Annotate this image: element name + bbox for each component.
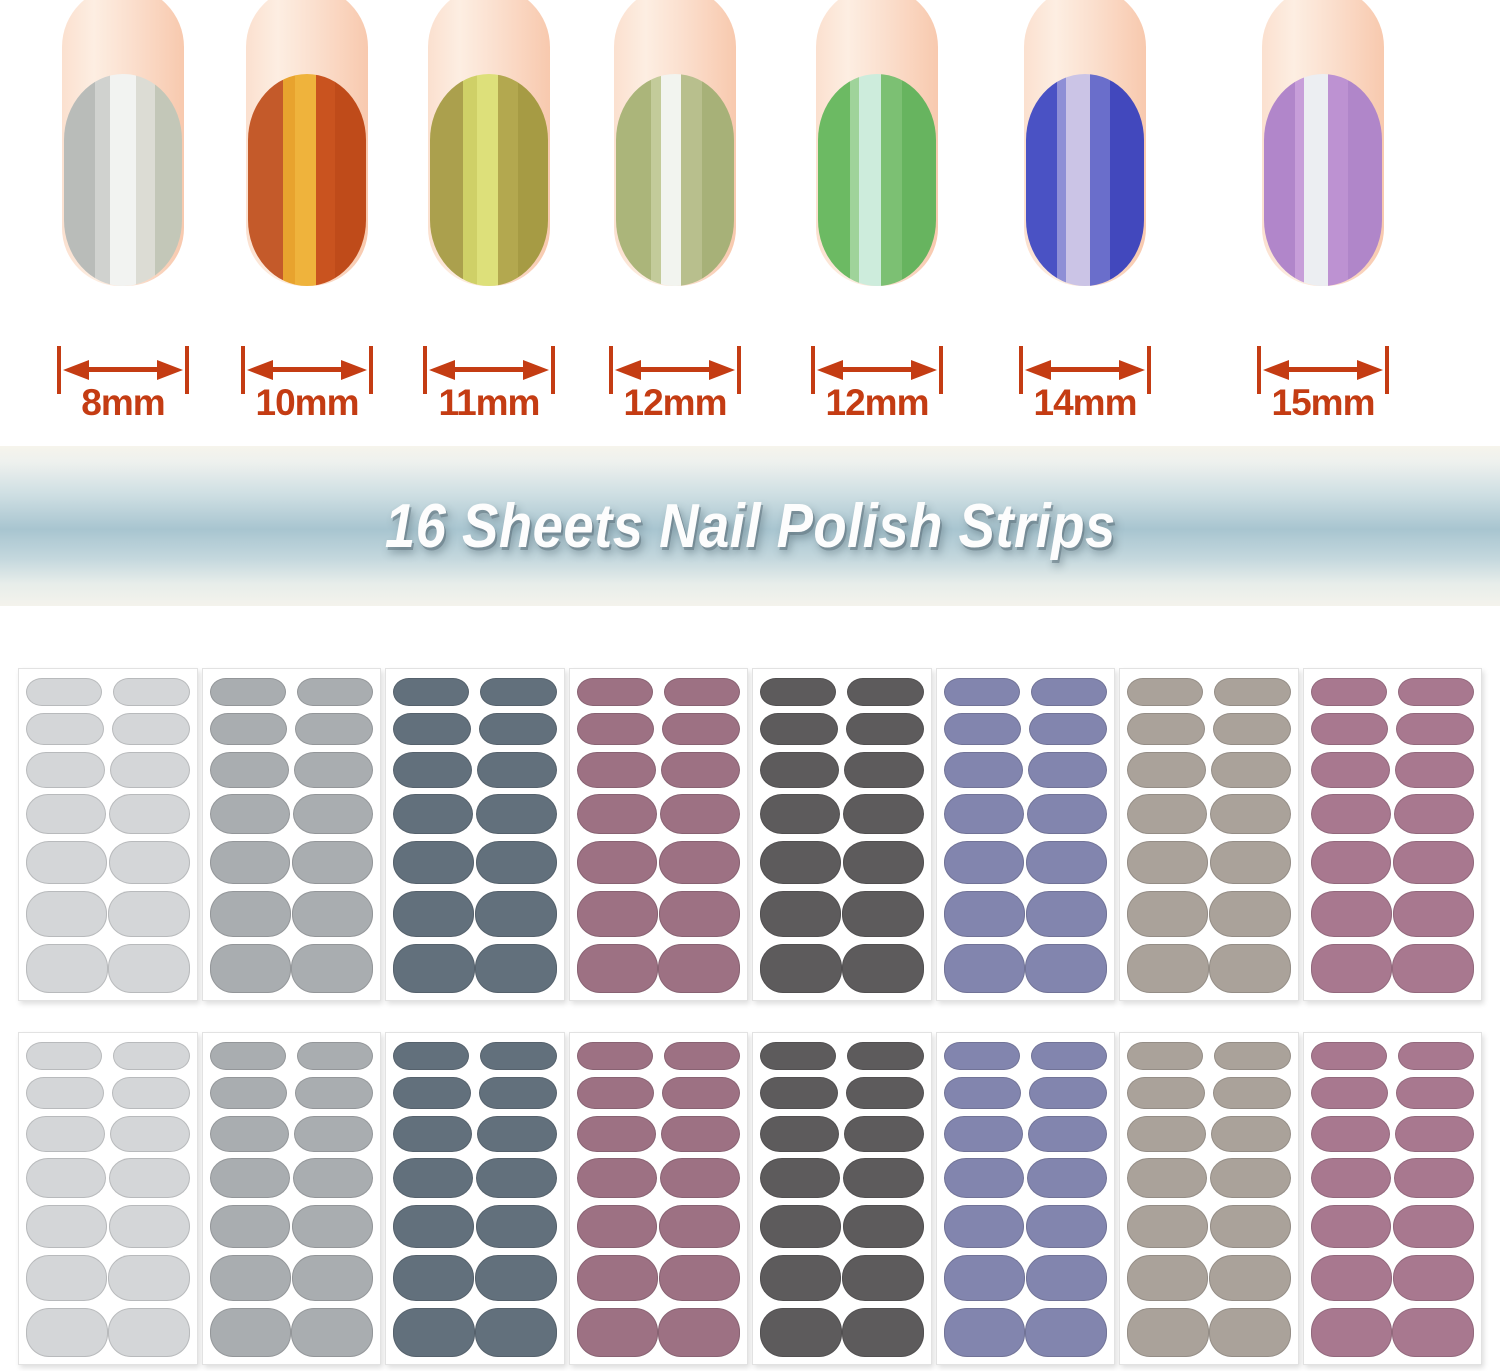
nail-decal-light-silver-gray[interactable]: [26, 752, 105, 788]
decal-row: [1127, 1077, 1291, 1109]
nail-decal-periwinkle-violet[interactable]: [944, 1077, 1022, 1109]
nail-decal-periwinkle-violet[interactable]: [1026, 1255, 1107, 1301]
nail-decal-mauve-pink[interactable]: [1311, 841, 1392, 884]
nail-decal-light-silver-gray[interactable]: [26, 678, 102, 706]
nail-decal-periwinkle-violet[interactable]: [1028, 752, 1107, 788]
nail-decal-light-silver-gray[interactable]: [26, 794, 106, 834]
nail-decal-light-silver-gray[interactable]: [109, 1205, 190, 1248]
nail-decal-warm-taupe[interactable]: [1127, 1205, 1208, 1248]
nail-decal-warm-taupe[interactable]: [1210, 1158, 1290, 1198]
nail-strip-sheet[interactable]: [18, 1032, 198, 1365]
nail-decal-dusty-mauve[interactable]: [577, 891, 658, 937]
nail-decal-charcoal-gray[interactable]: [843, 841, 924, 884]
nail-decal-charcoal-gray[interactable]: [843, 794, 923, 834]
nail-decal-charcoal-gray[interactable]: [846, 713, 924, 745]
nail-strip-sheet[interactable]: [202, 1032, 382, 1365]
nail-decal-periwinkle-violet[interactable]: [1025, 1308, 1107, 1357]
nail-decal-dusty-mauve[interactable]: [577, 1205, 658, 1248]
nail-decal-mauve-pink[interactable]: [1311, 891, 1392, 937]
nail-decal-slate-blue-gray[interactable]: [393, 1042, 469, 1070]
nail-decal-medium-gray[interactable]: [210, 1116, 289, 1152]
nail-decal-periwinkle-violet[interactable]: [1029, 713, 1107, 745]
nail-strip-sheet[interactable]: [1303, 668, 1483, 1001]
decal-row: [577, 1158, 741, 1198]
nail-decal-dusty-mauve[interactable]: [577, 841, 658, 884]
nail-decal-dusty-mauve[interactable]: [661, 1116, 740, 1152]
nail-decal-slate-blue-gray[interactable]: [476, 1205, 557, 1248]
nail-decal-charcoal-gray[interactable]: [760, 1077, 838, 1109]
nail-decal-dusty-mauve[interactable]: [664, 678, 740, 706]
nail-strip-sheet[interactable]: [1119, 1032, 1299, 1365]
nail-decal-warm-taupe[interactable]: [1127, 713, 1205, 745]
nail-decal-medium-gray[interactable]: [294, 752, 373, 788]
nail-decal-dusty-mauve[interactable]: [577, 678, 653, 706]
nail-decal-periwinkle-violet[interactable]: [944, 891, 1025, 937]
nail-decal-dusty-mauve[interactable]: [659, 1255, 740, 1301]
nail-decal-dusty-mauve[interactable]: [577, 1116, 656, 1152]
nail-strip-sheet[interactable]: [202, 668, 382, 1001]
nail-decal-medium-gray[interactable]: [210, 794, 290, 834]
nail-decal-dusty-mauve[interactable]: [577, 1308, 659, 1357]
nail-decal-mauve-pink[interactable]: [1311, 1255, 1392, 1301]
nail-decal-mauve-pink[interactable]: [1392, 944, 1474, 993]
nail-decal-slate-blue-gray[interactable]: [393, 1205, 474, 1248]
nail-decal-mauve-pink[interactable]: [1394, 1158, 1474, 1198]
nail-decal-dusty-mauve[interactable]: [577, 713, 655, 745]
nail-decal-light-silver-gray[interactable]: [112, 713, 190, 745]
nail-decal-mauve-pink[interactable]: [1311, 752, 1390, 788]
nail-decal-slate-blue-gray[interactable]: [477, 1116, 556, 1152]
decal-row: [944, 891, 1108, 937]
nail-decal-periwinkle-violet[interactable]: [944, 1116, 1023, 1152]
nail-decal-medium-gray[interactable]: [210, 678, 286, 706]
nail-decal-warm-taupe[interactable]: [1127, 752, 1206, 788]
nail-decal-periwinkle-violet[interactable]: [944, 841, 1025, 884]
arrowhead-left-icon: [1025, 360, 1051, 380]
nail-decal-charcoal-gray[interactable]: [847, 678, 923, 706]
nail-decal-mauve-pink[interactable]: [1311, 1158, 1391, 1198]
nail-decal-medium-gray[interactable]: [210, 752, 289, 788]
nail-decal-charcoal-gray[interactable]: [760, 1308, 842, 1357]
nail-decal-slate-blue-gray[interactable]: [393, 713, 471, 745]
decal-row: [760, 1116, 924, 1152]
nail-decal-warm-taupe[interactable]: [1127, 841, 1208, 884]
nail-decal-mauve-pink[interactable]: [1395, 1116, 1474, 1152]
nail-decal-dusty-mauve[interactable]: [577, 1077, 655, 1109]
nail-decal-charcoal-gray[interactable]: [760, 713, 838, 745]
nail-decal-periwinkle-violet[interactable]: [944, 1205, 1025, 1248]
nail-decal-light-silver-gray[interactable]: [26, 1077, 104, 1109]
nail-decal-periwinkle-violet[interactable]: [944, 752, 1023, 788]
nail-decal-light-silver-gray[interactable]: [113, 678, 189, 706]
nail-decal-slate-blue-gray[interactable]: [393, 1077, 471, 1109]
nail-decal-dusty-mauve[interactable]: [577, 944, 659, 993]
nail-decal-medium-gray[interactable]: [297, 678, 373, 706]
nail-decal-charcoal-gray[interactable]: [760, 678, 836, 706]
decal-row: [760, 752, 924, 788]
decal-row: [393, 944, 557, 993]
nail-decal-dusty-mauve[interactable]: [662, 713, 740, 745]
nail-decal-mauve-pink[interactable]: [1393, 1205, 1474, 1248]
decal-row: [26, 713, 190, 745]
nail-strip-sheet[interactable]: [385, 668, 565, 1001]
nail-decal-slate-blue-gray[interactable]: [393, 891, 474, 937]
nail-decal-charcoal-gray[interactable]: [842, 1308, 924, 1357]
decal-row: [944, 752, 1108, 788]
nail-decal-dusty-mauve[interactable]: [577, 1255, 658, 1301]
nail-decal-medium-gray[interactable]: [293, 1158, 373, 1198]
size-label: 14mm: [1019, 382, 1151, 424]
nail-decal-mauve-pink[interactable]: [1396, 1077, 1474, 1109]
nail-stripe: [1304, 74, 1328, 286]
nail-swatch-15mm: [1264, 74, 1382, 286]
nail-decal-charcoal-gray[interactable]: [760, 1158, 840, 1198]
nail-decal-warm-taupe[interactable]: [1211, 1116, 1290, 1152]
nail-decal-light-silver-gray[interactable]: [26, 1205, 107, 1248]
nail-decal-periwinkle-violet[interactable]: [944, 678, 1020, 706]
nail-decal-slate-blue-gray[interactable]: [475, 944, 557, 993]
nail-decal-slate-blue-gray[interactable]: [393, 1308, 475, 1357]
decal-row: [210, 944, 374, 993]
nail-decal-mauve-pink[interactable]: [1396, 713, 1474, 745]
nail-decal-light-silver-gray[interactable]: [108, 944, 190, 993]
nail-decal-medium-gray[interactable]: [210, 713, 288, 745]
decal-row: [1311, 1077, 1475, 1109]
nail-decal-warm-taupe[interactable]: [1127, 891, 1208, 937]
nail-decal-dusty-mauve[interactable]: [659, 891, 740, 937]
decal-row: [760, 891, 924, 937]
nail-decal-dusty-mauve[interactable]: [664, 1042, 740, 1070]
nail-decal-periwinkle-violet[interactable]: [1029, 1077, 1107, 1109]
nail-decal-medium-gray[interactable]: [210, 1077, 288, 1109]
decal-row: [1127, 1255, 1291, 1301]
nail-decal-charcoal-gray[interactable]: [843, 1205, 924, 1248]
nail-decal-light-silver-gray[interactable]: [109, 841, 190, 884]
nail-strip-sheet[interactable]: [569, 1032, 749, 1365]
nail-decal-light-silver-gray[interactable]: [110, 1116, 189, 1152]
nail-decal-dusty-mauve[interactable]: [577, 1042, 653, 1070]
decal-row: [210, 1042, 374, 1070]
nail-decal-charcoal-gray[interactable]: [760, 1205, 841, 1248]
nail-decal-slate-blue-gray[interactable]: [475, 1308, 557, 1357]
nail-decal-warm-taupe[interactable]: [1127, 794, 1207, 834]
nail-decal-mauve-pink[interactable]: [1311, 1116, 1390, 1152]
nail-stripe: [881, 74, 902, 286]
nail-decal-warm-taupe[interactable]: [1213, 1077, 1291, 1109]
nail-decal-periwinkle-violet[interactable]: [1026, 1205, 1107, 1248]
nail-strip-sheet[interactable]: [569, 668, 749, 1001]
nail-decal-warm-taupe[interactable]: [1214, 1042, 1290, 1070]
nail-strip-sheet[interactable]: [385, 1032, 565, 1365]
nail-decal-periwinkle-violet[interactable]: [944, 1255, 1025, 1301]
decal-row: [1127, 1042, 1291, 1070]
nail-decal-charcoal-gray[interactable]: [842, 1255, 923, 1301]
nail-decal-charcoal-gray[interactable]: [760, 794, 840, 834]
nail-strip-sheet[interactable]: [1303, 1032, 1483, 1365]
nail-decal-dusty-mauve[interactable]: [658, 1308, 740, 1357]
nail-decal-mauve-pink[interactable]: [1311, 944, 1393, 993]
decal-row: [393, 1116, 557, 1152]
nail-swatch-12mm: [616, 74, 734, 286]
nail-decal-periwinkle-violet[interactable]: [1026, 891, 1107, 937]
size-label: 12mm: [811, 382, 943, 424]
nail-strip-sheet[interactable]: [18, 668, 198, 1001]
nail-decal-slate-blue-gray[interactable]: [393, 1158, 473, 1198]
nail-decal-medium-gray[interactable]: [292, 1255, 373, 1301]
nail-decal-dusty-mauve[interactable]: [662, 1077, 740, 1109]
nail-strip-sheet[interactable]: [752, 1032, 932, 1365]
nail-decal-mauve-pink[interactable]: [1393, 841, 1474, 884]
nail-decal-light-silver-gray[interactable]: [26, 891, 107, 937]
nail-decal-dusty-mauve[interactable]: [660, 794, 740, 834]
decal-row: [944, 944, 1108, 993]
nail-decal-slate-blue-gray[interactable]: [393, 752, 472, 788]
nail-decal-mauve-pink[interactable]: [1393, 1255, 1474, 1301]
nail-decal-medium-gray[interactable]: [291, 944, 373, 993]
decal-row: [1311, 1158, 1475, 1198]
nail-decal-mauve-pink[interactable]: [1311, 713, 1389, 745]
decal-row: [1311, 1042, 1475, 1070]
nail-decal-mauve-pink[interactable]: [1392, 1308, 1474, 1357]
nail-decal-light-silver-gray[interactable]: [108, 1308, 190, 1357]
ruler-line: [443, 367, 535, 372]
size-label: 10mm: [241, 382, 373, 424]
nail-decal-mauve-pink[interactable]: [1311, 1205, 1392, 1248]
nail-decal-warm-taupe[interactable]: [1211, 752, 1290, 788]
nail-decal-medium-gray[interactable]: [210, 1205, 291, 1248]
nail-decal-light-silver-gray[interactable]: [26, 1308, 108, 1357]
size-ruler-12mm: 12mm: [609, 344, 741, 440]
decal-row: [1311, 713, 1475, 745]
nail-decal-periwinkle-violet[interactable]: [944, 944, 1026, 993]
nail-decal-dusty-mauve[interactable]: [660, 1158, 740, 1198]
nail-decal-warm-taupe[interactable]: [1210, 794, 1290, 834]
decal-row: [1127, 1158, 1291, 1198]
sheet-row-top: [18, 668, 1482, 1001]
nail-decal-medium-gray[interactable]: [292, 841, 373, 884]
nail-stripe: [110, 74, 136, 286]
nail-decal-mauve-pink[interactable]: [1311, 1308, 1393, 1357]
nail-decal-light-silver-gray[interactable]: [26, 1158, 106, 1198]
nail-decal-warm-taupe[interactable]: [1127, 1077, 1205, 1109]
nail-decal-periwinkle-violet[interactable]: [944, 1308, 1026, 1357]
nail-decal-warm-taupe[interactable]: [1127, 678, 1203, 706]
nail-decal-charcoal-gray[interactable]: [844, 752, 923, 788]
nail-decal-medium-gray[interactable]: [293, 794, 373, 834]
nail-decal-medium-gray[interactable]: [210, 1308, 292, 1357]
nail-decal-charcoal-gray[interactable]: [760, 944, 842, 993]
decal-row: [577, 1116, 741, 1152]
decal-row: [210, 713, 374, 745]
nail-decal-light-silver-gray[interactable]: [109, 794, 189, 834]
nail-decal-dusty-mauve[interactable]: [577, 752, 656, 788]
nail-decal-medium-gray[interactable]: [295, 1077, 373, 1109]
nail-decal-warm-taupe[interactable]: [1127, 944, 1209, 993]
decal-row: [1311, 678, 1475, 706]
nail-decal-medium-gray[interactable]: [292, 1205, 373, 1248]
decal-row: [577, 891, 741, 937]
nail-decal-charcoal-gray[interactable]: [842, 944, 924, 993]
nail-decal-light-silver-gray[interactable]: [112, 1077, 190, 1109]
decal-row: [760, 678, 924, 706]
nail-decal-periwinkle-violet[interactable]: [1031, 1042, 1107, 1070]
nail-decal-dusty-mauve[interactable]: [658, 944, 740, 993]
nail-decal-light-silver-gray[interactable]: [26, 841, 107, 884]
nail-decal-mauve-pink[interactable]: [1394, 794, 1474, 834]
nail-swatch-11mm: [430, 74, 548, 286]
nail-decal-warm-taupe[interactable]: [1127, 1255, 1208, 1301]
nail-decal-medium-gray[interactable]: [210, 944, 292, 993]
nail-decal-periwinkle-violet[interactable]: [1027, 1158, 1107, 1198]
nail-strip-sheet[interactable]: [936, 1032, 1116, 1365]
nail-decal-slate-blue-gray[interactable]: [480, 1042, 556, 1070]
nail-decal-slate-blue-gray[interactable]: [393, 841, 474, 884]
nail-decal-slate-blue-gray[interactable]: [475, 891, 556, 937]
decal-row: [1311, 752, 1475, 788]
decal-row: [1127, 1205, 1291, 1248]
nail-decal-medium-gray[interactable]: [297, 1042, 373, 1070]
nail-decal-medium-gray[interactable]: [210, 1255, 291, 1301]
nail-decal-mauve-pink[interactable]: [1393, 891, 1474, 937]
nail-decal-light-silver-gray[interactable]: [109, 1158, 189, 1198]
nail-decal-warm-taupe[interactable]: [1210, 1205, 1291, 1248]
nail-stripe: [463, 74, 477, 286]
nail-decal-slate-blue-gray[interactable]: [393, 1255, 474, 1301]
nail-decal-dusty-mauve[interactable]: [577, 1158, 657, 1198]
nail-decal-medium-gray[interactable]: [295, 713, 373, 745]
nail-decal-charcoal-gray[interactable]: [760, 1042, 836, 1070]
nail-decal-warm-taupe[interactable]: [1209, 1255, 1290, 1301]
nail-decal-slate-blue-gray[interactable]: [480, 678, 556, 706]
nail-decal-charcoal-gray[interactable]: [844, 1116, 923, 1152]
nail-decal-warm-taupe[interactable]: [1209, 1308, 1291, 1357]
nail-decal-slate-blue-gray[interactable]: [393, 678, 469, 706]
nail-strip-sheet[interactable]: [936, 668, 1116, 1001]
nail-decal-slate-blue-gray[interactable]: [393, 944, 475, 993]
nail-decal-mauve-pink[interactable]: [1395, 752, 1474, 788]
nail-decal-mauve-pink[interactable]: [1398, 678, 1474, 706]
nail-decal-warm-taupe[interactable]: [1127, 1116, 1206, 1152]
nail-decal-slate-blue-gray[interactable]: [479, 1077, 557, 1109]
nail-decal-charcoal-gray[interactable]: [760, 752, 839, 788]
nail-decal-warm-taupe[interactable]: [1127, 1158, 1207, 1198]
nail-decal-slate-blue-gray[interactable]: [476, 794, 556, 834]
nail-decal-light-silver-gray[interactable]: [26, 944, 108, 993]
nail-decal-light-silver-gray[interactable]: [113, 1042, 189, 1070]
nail-decal-periwinkle-violet[interactable]: [1027, 794, 1107, 834]
decal-row: [944, 1255, 1108, 1301]
nail-decal-warm-taupe[interactable]: [1210, 841, 1291, 884]
nail-decal-periwinkle-violet[interactable]: [1025, 944, 1107, 993]
nail-decal-slate-blue-gray[interactable]: [393, 1116, 472, 1152]
ruler-line: [1277, 367, 1369, 372]
nail-decal-charcoal-gray[interactable]: [760, 891, 841, 937]
decal-row: [577, 752, 741, 788]
nail-decal-medium-gray[interactable]: [210, 1158, 290, 1198]
nail-decal-medium-gray[interactable]: [210, 1042, 286, 1070]
decal-row: [26, 1077, 190, 1109]
nail-decal-light-silver-gray[interactable]: [110, 752, 189, 788]
nail-decal-warm-taupe[interactable]: [1213, 713, 1291, 745]
decal-row: [760, 841, 924, 884]
decal-row: [26, 1255, 190, 1301]
nail-decal-warm-taupe[interactable]: [1127, 1042, 1203, 1070]
nail-decal-periwinkle-violet[interactable]: [944, 713, 1022, 745]
nail-decal-medium-gray[interactable]: [210, 891, 291, 937]
nail-decal-charcoal-gray[interactable]: [842, 891, 923, 937]
nail-decal-slate-blue-gray[interactable]: [476, 1158, 556, 1198]
arrowhead-right-icon: [341, 360, 367, 380]
nail-decal-slate-blue-gray[interactable]: [476, 841, 557, 884]
decal-row: [577, 678, 741, 706]
nail-decal-charcoal-gray[interactable]: [843, 1158, 923, 1198]
nail-decal-medium-gray[interactable]: [294, 1116, 373, 1152]
nail-decal-light-silver-gray[interactable]: [26, 1255, 107, 1301]
nail-decal-mauve-pink[interactable]: [1311, 794, 1391, 834]
decal-row: [577, 841, 741, 884]
nail-decal-dusty-mauve[interactable]: [659, 841, 740, 884]
nail-decal-periwinkle-violet[interactable]: [1031, 678, 1107, 706]
nail-decal-slate-blue-gray[interactable]: [393, 794, 473, 834]
nail-decal-periwinkle-violet[interactable]: [944, 794, 1024, 834]
nail-decal-slate-blue-gray[interactable]: [477, 752, 556, 788]
nail-decal-warm-taupe[interactable]: [1127, 1308, 1209, 1357]
nail-decal-medium-gray[interactable]: [292, 891, 373, 937]
nail-decal-mauve-pink[interactable]: [1311, 678, 1387, 706]
decal-row: [944, 1158, 1108, 1198]
nail-decal-periwinkle-violet[interactable]: [1028, 1116, 1107, 1152]
nail-decal-dusty-mauve[interactable]: [661, 752, 740, 788]
nail-decal-charcoal-gray[interactable]: [847, 1042, 923, 1070]
nail-decal-slate-blue-gray[interactable]: [479, 713, 557, 745]
nail-decal-charcoal-gray[interactable]: [760, 841, 841, 884]
nail-decal-mauve-pink[interactable]: [1311, 1077, 1389, 1109]
nail-stripe: [1295, 74, 1304, 286]
nail-decal-mauve-pink[interactable]: [1398, 1042, 1474, 1070]
nail-decal-medium-gray[interactable]: [210, 841, 291, 884]
nail-decal-light-silver-gray[interactable]: [26, 713, 104, 745]
nail-decal-dusty-mauve[interactable]: [577, 794, 657, 834]
size-ruler-10mm: 10mm: [241, 344, 373, 440]
nail-decal-warm-taupe[interactable]: [1209, 891, 1290, 937]
title-banner: 16 Sheets Nail Polish Strips: [0, 446, 1500, 606]
nail-decal-light-silver-gray[interactable]: [108, 1255, 189, 1301]
decal-row: [944, 1116, 1108, 1152]
nail-decal-dusty-mauve[interactable]: [659, 1205, 740, 1248]
nail-decal-warm-taupe[interactable]: [1209, 944, 1291, 993]
decal-row: [944, 1308, 1108, 1357]
nail-decal-medium-gray[interactable]: [291, 1308, 373, 1357]
nail-decal-periwinkle-violet[interactable]: [1026, 841, 1107, 884]
nail-decal-charcoal-gray[interactable]: [760, 1255, 841, 1301]
decal-row: [944, 1042, 1108, 1070]
nail-decal-charcoal-gray[interactable]: [760, 1116, 839, 1152]
nail-decal-light-silver-gray[interactable]: [108, 891, 189, 937]
nail-strip-sheet[interactable]: [1119, 668, 1299, 1001]
nail-decal-mauve-pink[interactable]: [1311, 1042, 1387, 1070]
nail-strip-sheet[interactable]: [752, 668, 932, 1001]
decal-row: [210, 1116, 374, 1152]
nail-decal-light-silver-gray[interactable]: [26, 1042, 102, 1070]
nail-decal-warm-taupe[interactable]: [1214, 678, 1290, 706]
decal-row: [944, 678, 1108, 706]
nail-decal-charcoal-gray[interactable]: [846, 1077, 924, 1109]
nail-stripe: [316, 74, 335, 286]
nail-decal-light-silver-gray[interactable]: [26, 1116, 105, 1152]
nail-decal-periwinkle-violet[interactable]: [944, 1158, 1024, 1198]
nail-decal-slate-blue-gray[interactable]: [475, 1255, 556, 1301]
nail-decal-periwinkle-violet[interactable]: [944, 1042, 1020, 1070]
